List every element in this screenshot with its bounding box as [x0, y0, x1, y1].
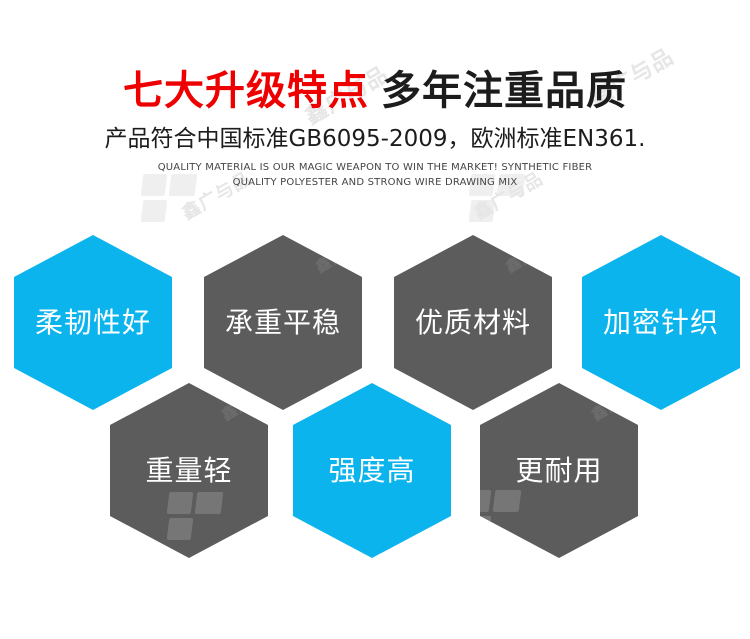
feature-hexagon-label: 重量轻	[145, 456, 232, 486]
page-title-secondary: 多年注重品质	[381, 68, 627, 114]
feature-hexagon[interactable]: 加密针织	[582, 235, 740, 410]
page-title: 七大升级特点多年注重品质	[0, 66, 750, 116]
feature-hexagon-label: 承重平稳	[225, 308, 341, 338]
subtitle-chinese: 产品符合中国标准GB6095-2009，欧洲标准EN361.	[0, 124, 750, 154]
page-title-highlight: 七大升级特点	[123, 68, 369, 114]
feature-hexagon[interactable]: 鑫广与品 更耐用	[480, 383, 638, 558]
promo-banner: 鑫广与品 鑫广与品 鑫广与品 鑫广与品 七大升级特点多年注重品质 产品符合中国标…	[0, 0, 750, 639]
brand-watermark-text: 鑫广与品	[311, 235, 362, 277]
feature-hexagon[interactable]: 柔韧性好	[14, 235, 172, 410]
feature-hexagon[interactable]: 鑫广与品 承重平稳	[204, 235, 362, 410]
brand-watermark-text: 鑫广与品	[501, 235, 552, 277]
header: 七大升级特点多年注重品质 产品符合中国标准GB6095-2009，欧洲标准EN3…	[0, 0, 750, 190]
feature-hexagon-label: 优质材料	[415, 308, 531, 338]
block-logo-watermark	[168, 492, 228, 540]
block-logo-watermark	[480, 490, 526, 538]
feature-hexagon-label: 加密针织	[603, 308, 719, 338]
subtitle-english-line1: QUALITY MATERIAL IS OUR MAGIC WEAPON TO …	[0, 160, 750, 175]
feature-hexagon[interactable]: 鑫广与品 重量轻	[110, 383, 268, 558]
feature-hexagon-label: 强度高	[328, 456, 415, 486]
subtitle-english-line2: QUALITY POLYESTER AND STRONG WIRE DRAWIN…	[0, 175, 750, 190]
feature-hexagon[interactable]: 鑫广与品 优质材料	[394, 235, 552, 410]
feature-hexagon[interactable]: 强度高	[293, 383, 451, 558]
feature-hexagon-label: 更耐用	[515, 456, 602, 486]
feature-hexagon-label: 柔韧性好	[35, 308, 151, 338]
